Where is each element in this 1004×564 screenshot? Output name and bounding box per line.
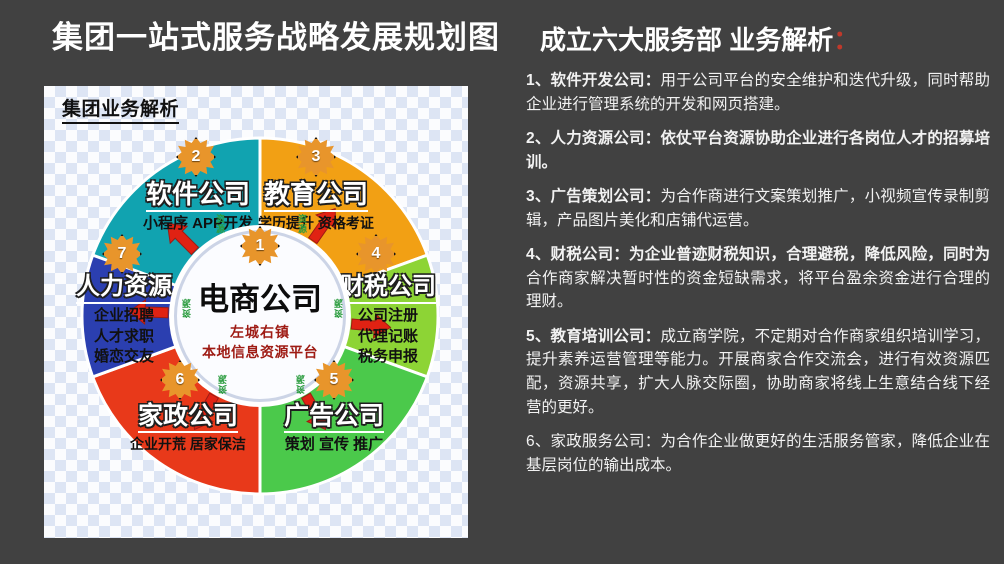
- list-item: 1、软件开发公司：用于公司平台的安全维护和迭代升级，同时帮助企业进行管理系统的开…: [526, 69, 990, 116]
- ring-word-top-left: 资源: [214, 214, 227, 234]
- slide-title-left: 集团一站式服务战略发展规划图: [52, 16, 482, 60]
- item-body: 6、家政服务公司：为合作企业做更好的生活服务管家，降低企业在基层岗位的输出成本。: [526, 433, 990, 474]
- list-item: 2、人力资源公司：依仗平台资源协助企业进行各岗位人才的招募培训。: [526, 127, 990, 174]
- badge-number: 7: [102, 234, 142, 274]
- hub-badge: 1: [240, 226, 280, 266]
- badge-number: 5: [314, 360, 354, 400]
- section-heading: 成立六大服务部 业务解析：: [540, 20, 990, 57]
- segment-badge-finance: 4: [356, 234, 396, 274]
- item-body: 合作商家解决暂时性的资金短缺需求，将平台盈余资金进行合理的理财。: [526, 270, 990, 311]
- ring-word-bottom-right: 资源: [294, 374, 307, 394]
- item-lead: 1、软件开发公司：: [526, 72, 660, 89]
- badge-number: 6: [160, 360, 200, 400]
- segment-badge-software: 2: [176, 137, 216, 177]
- segment-badge-advertising: 5: [314, 360, 354, 400]
- item-lead: 5、教育培训公司：: [526, 328, 660, 345]
- hub-title: 电商公司: [174, 274, 346, 319]
- badge-number: 2: [176, 137, 216, 177]
- badge-number: 3: [296, 137, 336, 177]
- infographic-image: 集团业务解析: [44, 86, 468, 538]
- right-panel: 成立六大服务部 业务解析： 1、软件开发公司：用于公司平台的安全维护和迭代升级，…: [512, 0, 1004, 564]
- list-item: 6、家政服务公司：为合作企业做更好的生活服务管家，降低企业在基层岗位的输出成本。: [526, 430, 990, 477]
- badge-number: 1: [240, 226, 280, 266]
- left-panel: 集团一站式服务战略发展规划图 集团业务解析: [0, 0, 512, 564]
- segment-badge-education: 3: [296, 137, 336, 177]
- item-lead: 4、财税公司：为企业普迹财税知识，合理避税，降低风险，同时为: [526, 246, 990, 263]
- ring-word-top-right: 资源: [296, 214, 309, 234]
- chart-title: 集团业务解析: [62, 94, 179, 124]
- badge-number: 4: [356, 234, 396, 274]
- ring-word-bottom-left: 资源: [216, 374, 229, 394]
- hub-subtitle-1: 左城右镇: [174, 322, 346, 342]
- item-lead: 3、广告策划公司：: [526, 188, 660, 205]
- hub-subtitle-2: 本地信息资源平台: [174, 342, 346, 362]
- segment-badge-housekeeping: 6: [160, 360, 200, 400]
- item-lead: 2、人力资源公司：依仗平台资源协助企业进行各岗位人才的招募培训。: [526, 130, 990, 171]
- segment-badge-hr: 7: [102, 234, 142, 274]
- section-heading-colon: ：: [833, 25, 859, 55]
- list-item: 3、广告策划公司：为合作商进行文案策划推广，小视频宣传录制剪辑，产品图片美化和店…: [526, 185, 990, 232]
- donut-chart: 资源 资源 资源 资源 资源 资源 2 软件公司 小程序 APP开发 3 教育公: [56, 102, 456, 522]
- section-heading-text: 成立六大服务部 业务解析: [540, 25, 833, 55]
- list-item: 4、财税公司：为企业普迹财税知识，合理避税，降低风险，同时为合作商家解决暂时性的…: [526, 243, 990, 314]
- list-item: 5、教育培训公司：成立商学院，不定期对合作商家组织培训学习，提升素养运营管理等能…: [526, 325, 990, 419]
